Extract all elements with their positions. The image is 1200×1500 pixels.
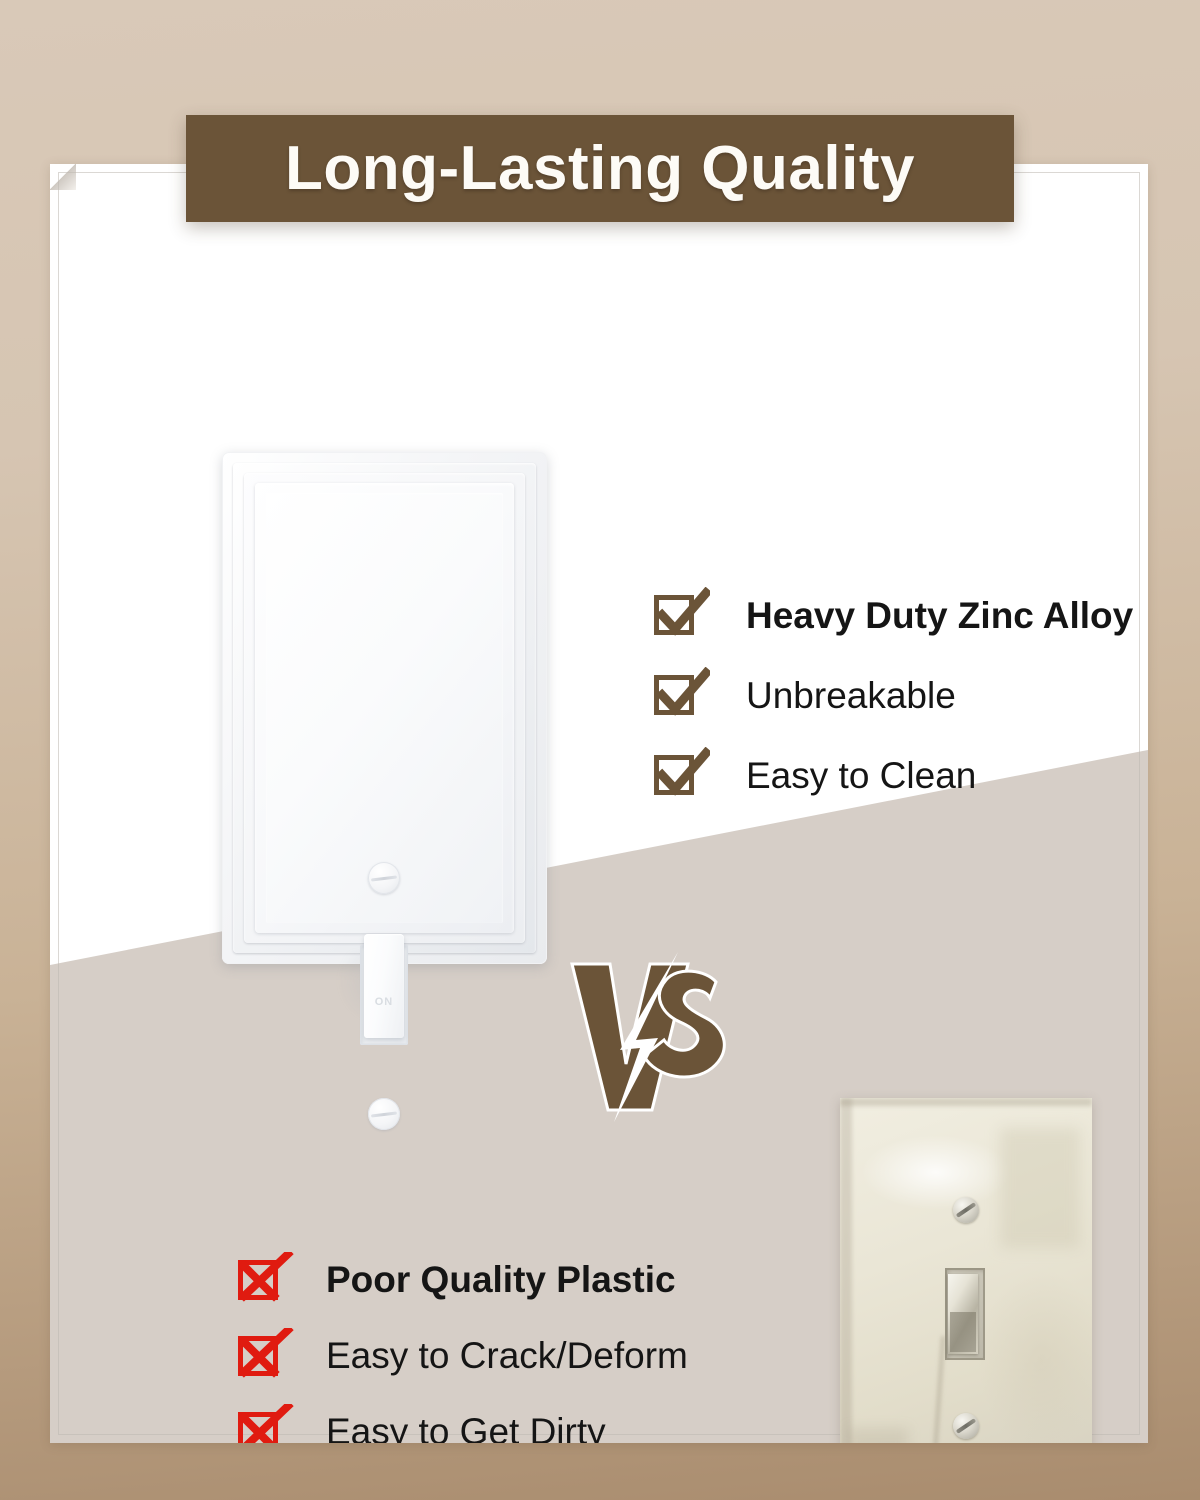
plate-dirt-edge-left bbox=[840, 1098, 852, 1443]
title-banner: Long-Lasting Quality bbox=[186, 115, 1014, 222]
list-item-label: Heavy Duty Zinc Alloy bbox=[746, 595, 1133, 637]
yellowed-wall-plate-image bbox=[840, 1098, 1092, 1443]
plate-stain bbox=[848, 1428, 908, 1443]
cross-icon bbox=[236, 1332, 284, 1380]
old-plate-screw-bottom bbox=[953, 1413, 979, 1439]
check-icon bbox=[652, 591, 702, 641]
plate-screw-top bbox=[368, 862, 400, 894]
list-item-label: Easy to Crack/Deform bbox=[326, 1335, 688, 1377]
card-corner-fold bbox=[50, 164, 76, 190]
plate-dirt-edge-top bbox=[840, 1098, 1092, 1106]
list-item: Easy to Get Dirty bbox=[236, 1394, 688, 1443]
list-item: Easy to Crack/Deform bbox=[236, 1318, 688, 1394]
list-item: Easy to Clean bbox=[652, 736, 1133, 816]
drawbacks-list: Poor Quality Plastic Easy to Crack/Defor… bbox=[236, 1242, 688, 1443]
check-icon bbox=[652, 671, 702, 721]
list-item: Unbreakable bbox=[652, 656, 1133, 736]
toggle-lever: ON bbox=[364, 934, 404, 1038]
page-title: Long-Lasting Quality bbox=[285, 133, 915, 204]
cross-icon bbox=[236, 1408, 284, 1443]
plate-face bbox=[266, 493, 503, 923]
list-item: Poor Quality Plastic bbox=[236, 1242, 688, 1318]
benefits-list: Heavy Duty Zinc Alloy Unbreakable Easy t… bbox=[652, 576, 1133, 816]
list-item-label: Easy to Get Dirty bbox=[326, 1411, 606, 1443]
list-item-label: Poor Quality Plastic bbox=[326, 1259, 676, 1301]
check-icon bbox=[652, 751, 702, 801]
old-toggle-grime bbox=[950, 1312, 976, 1352]
list-item-label: Unbreakable bbox=[746, 675, 956, 717]
versus-badge bbox=[566, 952, 746, 1122]
list-item: Heavy Duty Zinc Alloy bbox=[652, 576, 1133, 656]
list-item-label: Easy to Clean bbox=[746, 755, 976, 797]
cross-icon bbox=[236, 1256, 284, 1304]
plate-gloss-highlight bbox=[1000, 1128, 1080, 1248]
white-wall-plate-image: ON bbox=[222, 452, 547, 964]
plate-crack bbox=[931, 1336, 945, 1443]
plate-screw-bottom bbox=[368, 1098, 400, 1130]
toggle-on-label: ON bbox=[364, 996, 404, 1008]
infographic-card: ON Heavy Duty Zinc Alloy Unbreakable bbox=[50, 164, 1148, 1443]
old-plate-screw-top bbox=[953, 1197, 979, 1223]
